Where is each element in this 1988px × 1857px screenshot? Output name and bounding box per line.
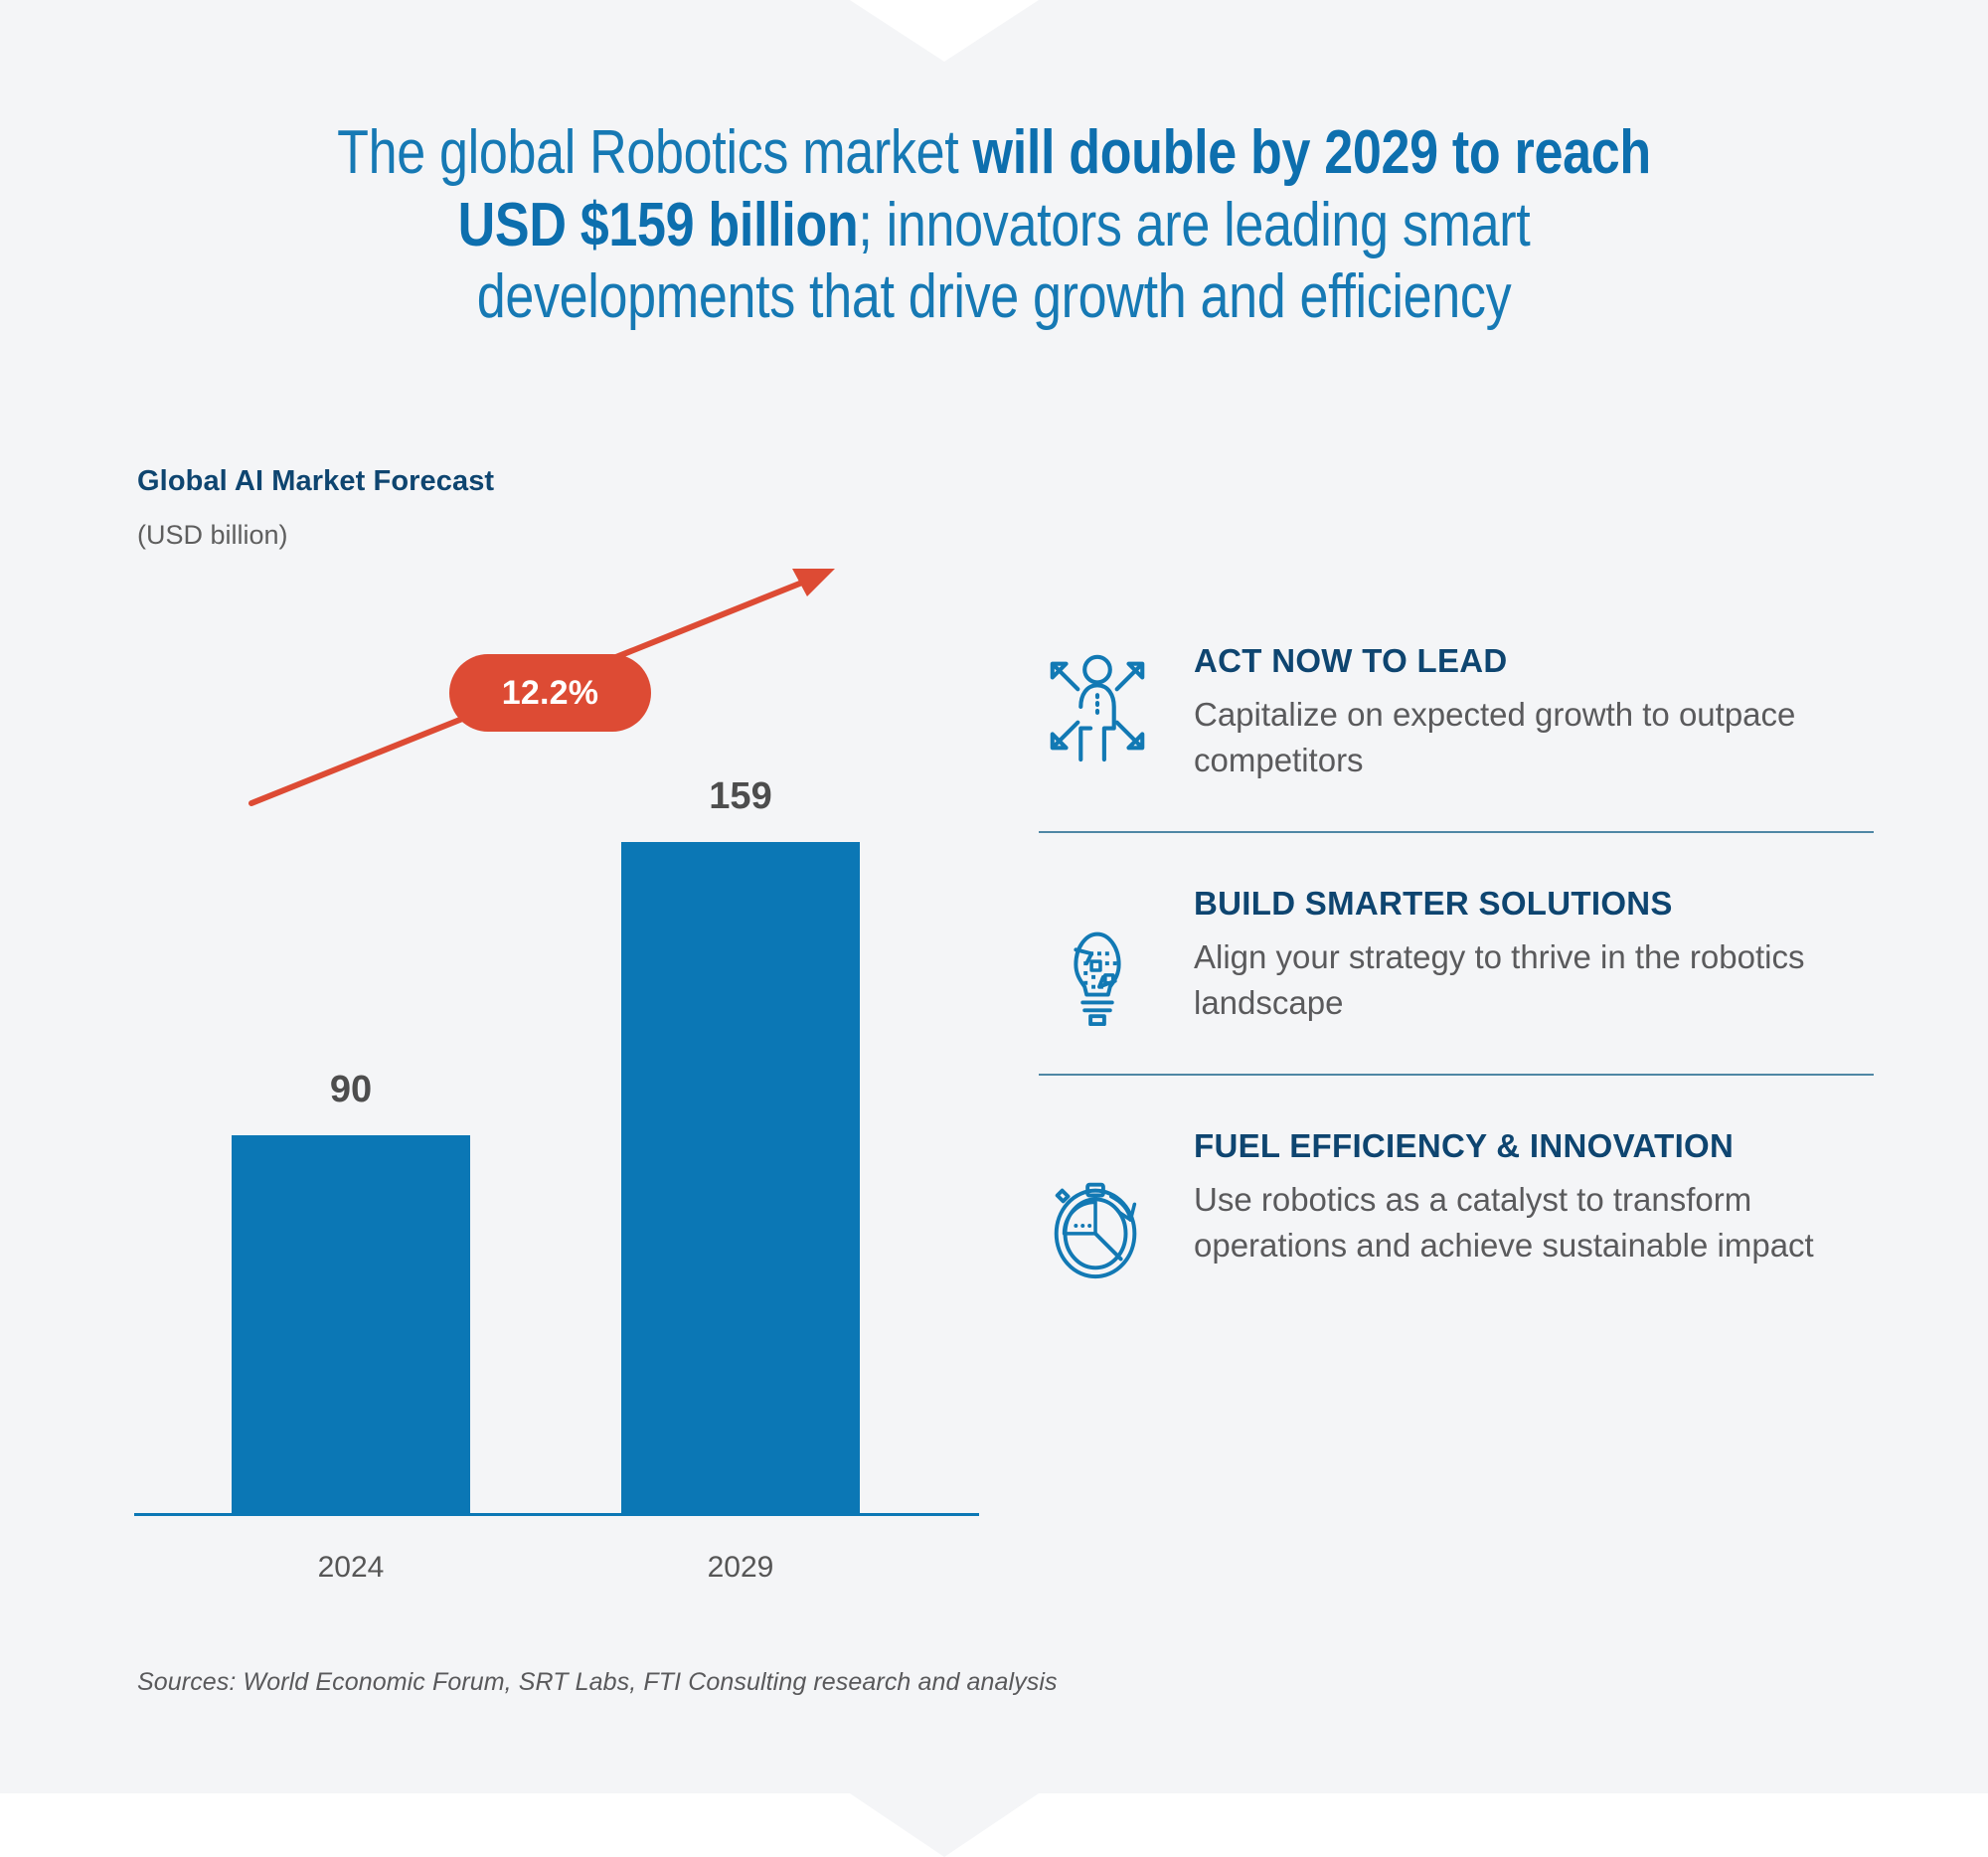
key-points-list: ACT NOW TO LEAD Capitalize on expected g… (1039, 636, 1874, 1300)
x-axis-line (134, 1513, 979, 1516)
key-point-title: ACT NOW TO LEAD (1194, 642, 1874, 680)
key-point-fuel-efficiency-innovation: FUEL EFFICIENCY & INNOVATION Use robotic… (1039, 1121, 1874, 1300)
key-point-text: Align your strategy to thrive in the rob… (1194, 934, 1874, 1025)
page-title: The global Robotics market will double b… (309, 117, 1679, 334)
bar-value-2029: 159 (621, 775, 860, 818)
person-expanding-arrows-icon (1039, 646, 1156, 763)
divider-1 (1039, 831, 1874, 833)
key-point-title: FUEL EFFICIENCY & INNOVATION (1194, 1127, 1874, 1165)
x-axis-tick-2024: 2024 (232, 1551, 470, 1585)
key-point-title: BUILD SMARTER SOLUTIONS (1194, 885, 1874, 923)
key-point-body: BUILD SMARTER SOLUTIONS Align your strat… (1194, 879, 1874, 1025)
key-point-text: Use robotics as a catalyst to transform … (1194, 1177, 1874, 1267)
divider-2 (1039, 1074, 1874, 1076)
chart-subtitle: (USD billion) (137, 520, 288, 551)
sources-note: Sources: World Economic Forum, SRT Labs,… (137, 1668, 1058, 1697)
chart-title: Global AI Market Forecast (137, 465, 494, 498)
key-point-act-now-to-lead: ACT NOW TO LEAD Capitalize on expected g… (1039, 636, 1874, 785)
headline-part-1: The global Robotics market (337, 118, 972, 187)
lightbulb-circuit-icon (1039, 911, 1156, 1028)
infographic-root: The global Robotics market will double b… (0, 0, 1988, 1857)
growth-rate-badge: 12.2% (449, 654, 651, 732)
bar-2024 (232, 1135, 470, 1514)
bar-2029 (621, 842, 860, 1514)
key-point-body: FUEL EFFICIENCY & INNOVATION Use robotic… (1194, 1121, 1874, 1267)
x-axis-tick-2029: 2029 (621, 1551, 860, 1585)
key-point-body: ACT NOW TO LEAD Capitalize on expected g… (1194, 636, 1874, 782)
stopwatch-pie-chart-icon (1039, 1167, 1156, 1284)
key-point-build-smarter-solutions: BUILD SMARTER SOLUTIONS Align your strat… (1039, 879, 1874, 1028)
key-point-text: Capitalize on expected growth to outpace… (1194, 692, 1874, 782)
bar-value-2024: 90 (232, 1069, 470, 1111)
